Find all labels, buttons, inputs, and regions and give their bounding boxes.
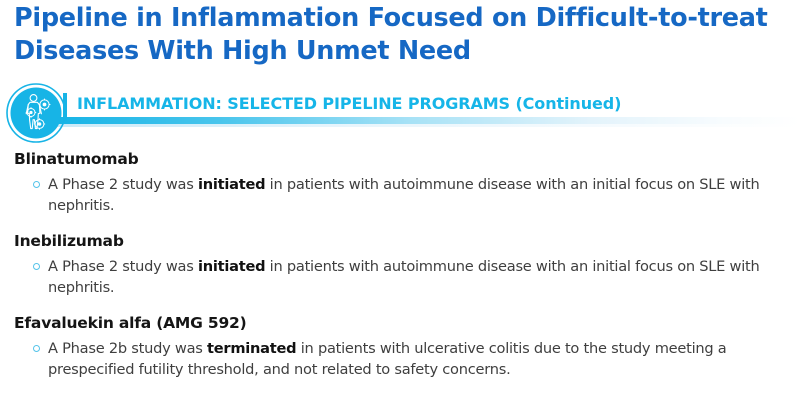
- program-name: Efavaluekin alfa (AMG 592): [14, 314, 800, 332]
- program-name: Inebilizumab: [14, 232, 800, 250]
- bullet-text-before: A Phase 2b study was: [48, 340, 207, 357]
- program-block: Inebilizumab A Phase 2 study was initiat…: [0, 232, 800, 298]
- bullet-text-emphasis: initiated: [198, 176, 265, 193]
- inflammation-body-icon: [6, 83, 66, 143]
- section-subtitle: INFLAMMATION: SELECTED PIPELINE PROGRAMS…: [77, 94, 621, 113]
- bullet-text-emphasis: initiated: [198, 258, 265, 275]
- program-list: Blinatumomab A Phase 2 study was initiat…: [0, 150, 800, 394]
- bullet-text-before: A Phase 2 study was: [48, 258, 198, 275]
- banner-gradient-rule-shadow: [56, 124, 800, 127]
- section-banner: [0, 83, 800, 143]
- program-bullet: A Phase 2b study was terminated in patie…: [0, 338, 800, 380]
- banner-gradient-rule: [56, 117, 800, 124]
- bullet-circle-icon: [33, 263, 40, 270]
- program-block: Blinatumomab A Phase 2 study was initiat…: [0, 150, 800, 216]
- program-bullet: A Phase 2 study was initiated in patient…: [0, 256, 800, 298]
- bullet-circle-icon: [33, 345, 40, 352]
- bullet-text-emphasis: terminated: [207, 340, 296, 357]
- program-block: Efavaluekin alfa (AMG 592) A Phase 2b st…: [0, 314, 800, 380]
- bullet-text-before: A Phase 2 study was: [48, 176, 198, 193]
- bullet-circle-icon: [33, 181, 40, 188]
- program-bullet: A Phase 2 study was initiated in patient…: [0, 174, 800, 216]
- program-name: Blinatumomab: [14, 150, 800, 168]
- page-title: Pipeline in Inflammation Focused on Diff…: [14, 2, 774, 68]
